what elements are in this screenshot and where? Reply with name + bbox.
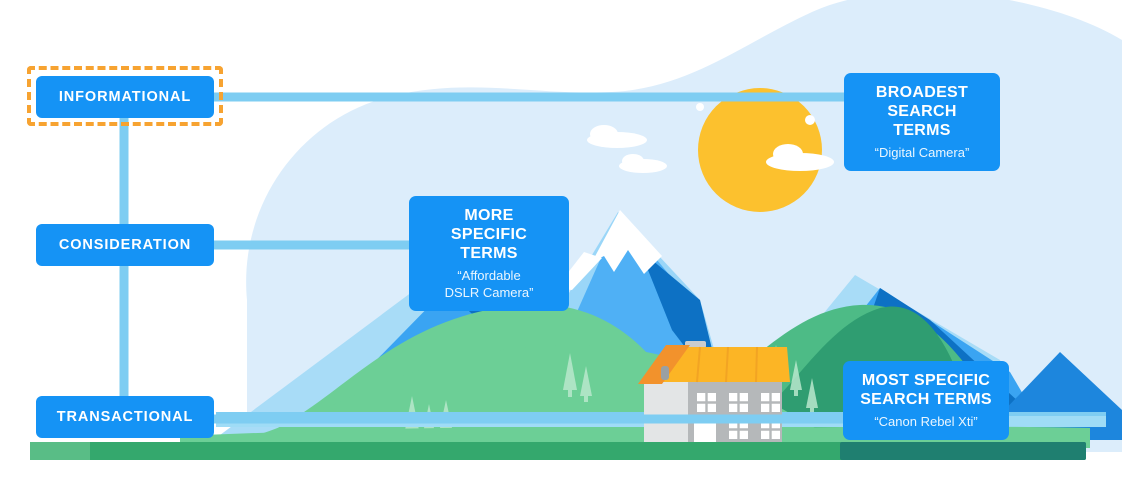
infographic-canvas: INFORMATIONAL CONSIDERATION TRANSACTIONA…	[0, 0, 1122, 480]
stage-box-consideration[interactable]: CONSIDERATION	[36, 224, 214, 266]
callout-most-specific-search-terms[interactable]: MOST SPECIFIC SEARCH TERMS “Canon Rebel …	[843, 361, 1009, 440]
house	[638, 341, 790, 447]
sun	[698, 88, 822, 212]
stage-box-transactional[interactable]: TRANSACTIONAL	[36, 396, 214, 438]
callout-broadest-example: “Digital Camera”	[858, 144, 986, 161]
callout-most-title: MOST SPECIFIC SEARCH TERMS	[857, 371, 995, 409]
callout-broadest-search-terms[interactable]: BROADEST SEARCH TERMS “Digital Camera”	[844, 73, 1000, 171]
callout-broadest-title: BROADEST SEARCH TERMS	[858, 83, 986, 140]
callout-more-example: “Affordable DSLR Camera”	[423, 267, 555, 301]
ground-strip-shadow	[840, 442, 1086, 460]
callout-more-specific-terms[interactable]: MORE SPECIFIC TERMS “Affordable DSLR Cam…	[409, 196, 569, 311]
selection-marquee-informational	[27, 66, 223, 126]
callout-more-title: MORE SPECIFIC TERMS	[423, 206, 555, 263]
house-attic-window	[661, 366, 669, 380]
ground-strip-left-light	[30, 442, 90, 460]
house-gable-wall	[644, 380, 688, 446]
callout-most-example: “Canon Rebel Xti”	[857, 413, 995, 430]
